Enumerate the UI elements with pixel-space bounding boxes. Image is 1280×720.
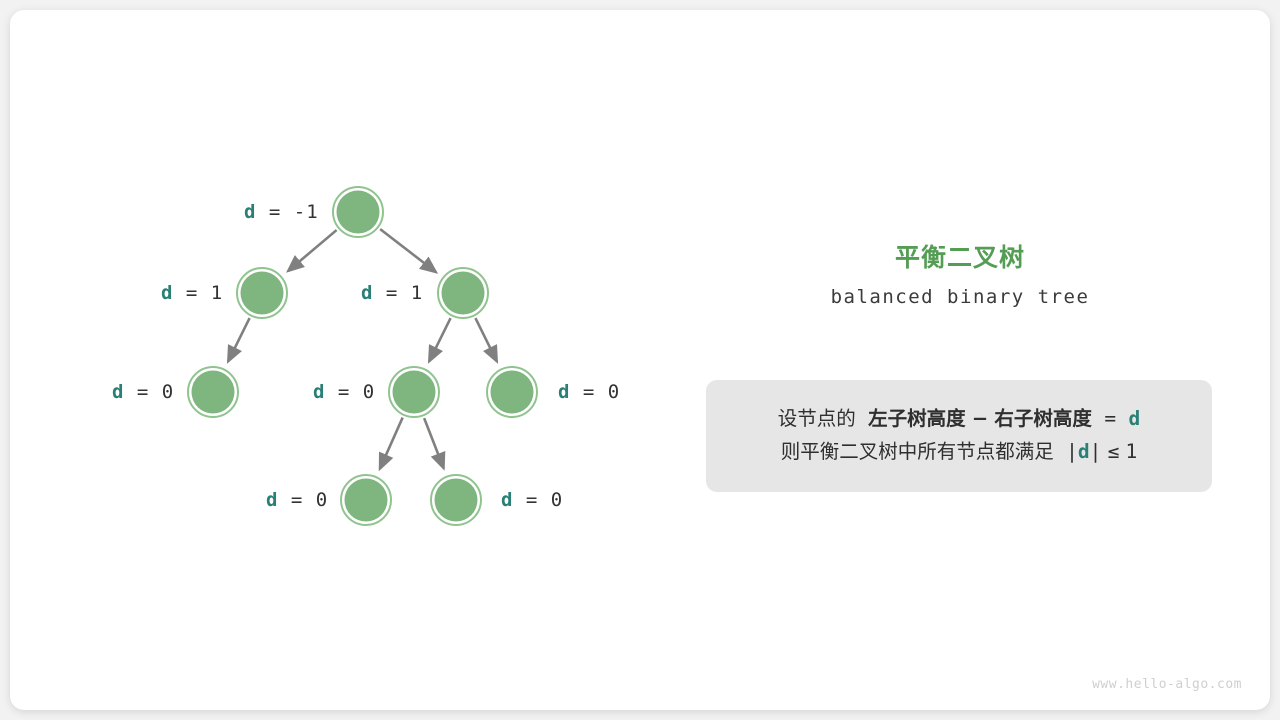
node-balance-label: d = 1 [361, 282, 423, 304]
balance-d-symbol: d [313, 381, 325, 403]
tree-edge [380, 418, 403, 469]
balance-equals-sign: = [570, 381, 607, 403]
balance-d-symbol: d [266, 489, 278, 511]
balance-equals-sign: = [325, 381, 362, 403]
tree-node [435, 479, 478, 522]
tree-edges [228, 229, 497, 469]
watermark: www.hello-algo.com [1092, 677, 1242, 692]
definition-box: 设节点的 左子树高度 − 右子树高度 = d 则平衡二叉树中所有节点都满足 |d… [706, 380, 1212, 492]
definition-line-1: 设节点的 左子树高度 − 右子树高度 = d [706, 402, 1212, 435]
tree-node [192, 371, 235, 414]
figure-card: d = -1d = 1d = 1d = 0d = 0d = 0d = 0d = … [10, 10, 1270, 710]
node-balance-label: d = 0 [313, 381, 375, 403]
balance-equals-sign: = [373, 282, 410, 304]
node-balance-label: d = 0 [112, 381, 174, 403]
definition-right-subtree-height: 右子树高度 [994, 407, 1092, 430]
definition-d-symbol: d [1129, 407, 1141, 430]
tree-edge [228, 318, 249, 361]
balance-value: 1 [411, 282, 423, 304]
balance-equals-sign: = [513, 489, 550, 511]
balance-d-symbol: d [558, 381, 570, 403]
tree-node [491, 371, 534, 414]
node-balance-label: d = 0 [266, 489, 328, 511]
balance-equals-sign: = [124, 381, 161, 403]
definition-line-2: 则平衡二叉树中所有节点都满足 |d| ≤ 1 [706, 435, 1212, 468]
tree-edge [429, 318, 450, 361]
definition-d-symbol-abs: d [1078, 440, 1090, 463]
tree-edge [475, 318, 496, 361]
node-balance-label: d = 0 [501, 489, 563, 511]
definition-equals-sign: = [1104, 407, 1116, 430]
balance-value: 0 [608, 381, 620, 403]
tree-edge [380, 229, 436, 272]
info-panel: 平衡二叉树 balanced binary tree 设节点的 左子树高度 − … [700, 10, 1220, 710]
tree-edge [424, 418, 444, 468]
balance-equals-sign: = [278, 489, 315, 511]
balance-value: 0 [162, 381, 174, 403]
balance-equals-sign: = [173, 282, 210, 304]
binary-tree-diagram [10, 10, 670, 710]
definition-abs-bar-close: | [1090, 440, 1102, 463]
definition-left-subtree-height: 左子树高度 [868, 407, 966, 430]
definition-line1-prefix: 设节点的 [778, 407, 856, 430]
balance-d-symbol: d [501, 489, 513, 511]
tree-nodes [188, 187, 537, 525]
definition-line2-prefix: 则平衡二叉树中所有节点都满足 [781, 440, 1054, 463]
balance-value: 0 [551, 489, 563, 511]
tree-node [442, 272, 485, 315]
balance-value: 1 [211, 282, 223, 304]
definition-relation-symbol: ≤ [1108, 440, 1120, 463]
definition-bound-value: 1 [1126, 440, 1138, 463]
page-title: 平衡二叉树 [700, 238, 1220, 274]
balance-equals-sign: = [256, 201, 293, 223]
tree-node [241, 272, 284, 315]
balance-d-symbol: d [161, 282, 173, 304]
balance-value: -1 [294, 201, 319, 223]
balance-d-symbol: d [244, 201, 256, 223]
tree-edge [288, 230, 337, 271]
node-balance-label: d = -1 [244, 201, 319, 223]
page-subtitle: balanced binary tree [700, 286, 1220, 308]
balance-d-symbol: d [112, 381, 124, 403]
node-balance-label: d = 1 [161, 282, 223, 304]
node-balance-label: d = 0 [558, 381, 620, 403]
tree-node [393, 371, 436, 414]
tree-node [337, 191, 380, 234]
tree-node [345, 479, 388, 522]
definition-minus-sign: − [972, 407, 988, 430]
definition-abs-bar-open: | [1066, 440, 1078, 463]
balance-d-symbol: d [361, 282, 373, 304]
balance-value: 0 [363, 381, 375, 403]
balance-value: 0 [316, 489, 328, 511]
